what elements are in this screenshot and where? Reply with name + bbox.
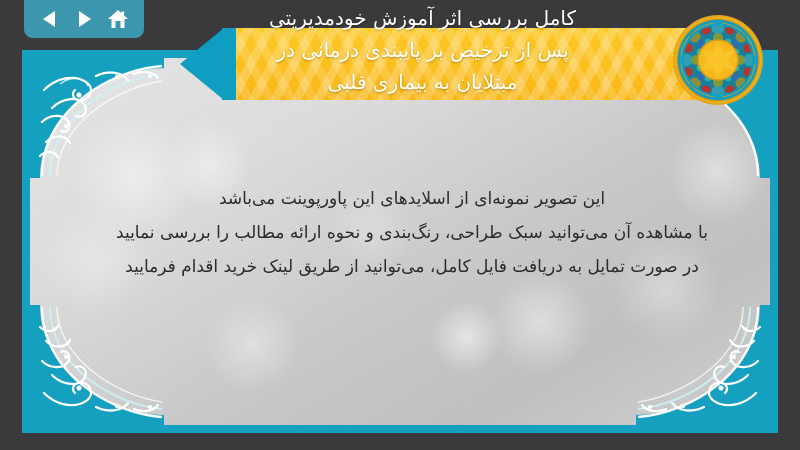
body-line-2: با مشاهده آن می‌توانید سبک طراحی، رنگ‌بن… bbox=[62, 216, 762, 250]
next-button[interactable] bbox=[73, 8, 95, 30]
slide-screenshot: این تصویر نمونه‌ای از اسلایدهای این پاور… bbox=[0, 0, 800, 450]
body-line-3: در صورت تمایل به دریافت فایل کامل، می‌تو… bbox=[62, 250, 762, 284]
persian-medallion-ornament-icon bbox=[672, 14, 764, 106]
body-text-block: این تصویر نمونه‌ای از اسلایدهای این پاور… bbox=[62, 182, 762, 284]
triangle-right-icon bbox=[73, 8, 95, 30]
home-button[interactable] bbox=[107, 8, 129, 30]
triangle-left-icon bbox=[39, 8, 61, 30]
home-icon bbox=[107, 8, 129, 30]
page-title: کامل بررسی اثر آموزش خودمدیریتی پس از تر… bbox=[180, 2, 665, 98]
body-line-1: این تصویر نمونه‌ای از اسلایدهای این پاور… bbox=[62, 182, 762, 216]
previous-button[interactable] bbox=[39, 8, 61, 30]
navigation-bar bbox=[24, 0, 144, 38]
